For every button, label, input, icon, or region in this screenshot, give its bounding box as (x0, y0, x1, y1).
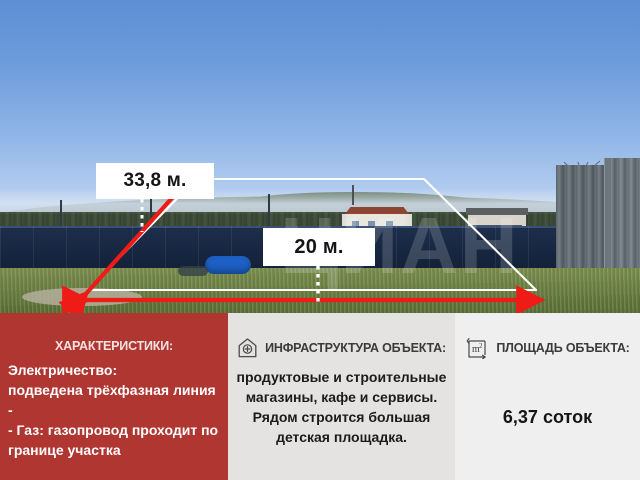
area-value: 6,37 соток (455, 407, 640, 428)
characteristics-line: границе участка (8, 440, 222, 460)
info-panels: ХАРАКТЕРИСТИКИ: Электричество: подведена… (0, 313, 640, 480)
plot-measurement-overlay (0, 0, 640, 313)
square-meters-icon: m 2 (465, 337, 489, 359)
characteristics-line: подведена трёхфазная линия - (8, 380, 222, 420)
infrastructure-line: Рядом строится большая (234, 407, 449, 427)
area-header: m 2 ПЛОЩАДЬ ОБЪЕКТА: (455, 337, 640, 359)
front-width-label: 20 м. (263, 228, 375, 266)
infrastructure-line: магазины, кафе и сервисы. (234, 387, 449, 407)
listing-photo-card: ЦИАН 33,8 м. 20 м. ХАРАКТЕРИСТИКИ: Элек (0, 0, 640, 480)
panel-infrastructure: ИНФРАСТРУКТУРА ОБЪЕКТА: продуктовые и ст… (228, 313, 455, 480)
characteristics-line: Электричество: (8, 360, 222, 380)
area-heading: ПЛОЩАДЬ ОБЪЕКТА: (496, 341, 629, 355)
house-plus-icon (237, 337, 258, 359)
infrastructure-body: продуктовые и строительные магазины, каф… (228, 367, 455, 447)
characteristics-heading: ХАРАКТЕРИСТИКИ: (55, 339, 173, 353)
characteristics-body: Электричество: подведена трёхфазная лини… (0, 360, 228, 460)
infrastructure-header: ИНФРАСТРУКТУРА ОБЪЕКТА: (228, 337, 455, 359)
side-length-label: 33,8 м. (96, 163, 214, 199)
characteristics-header: ХАРАКТЕРИСТИКИ: (0, 339, 228, 353)
area-icon-superscript: 2 (479, 342, 483, 350)
characteristics-line: - Газ: газопровод проходит по (8, 420, 222, 440)
panel-characteristics: ХАРАКТЕРИСТИКИ: Электричество: подведена… (0, 313, 228, 480)
infrastructure-heading: ИНФРАСТРУКТУРА ОБЪЕКТА: (265, 341, 446, 355)
panel-area: m 2 ПЛОЩАДЬ ОБЪЕКТА: 6,37 соток (455, 313, 640, 480)
infrastructure-line: детская площадка. (234, 427, 449, 447)
infrastructure-line: продуктовые и строительные (234, 367, 449, 387)
